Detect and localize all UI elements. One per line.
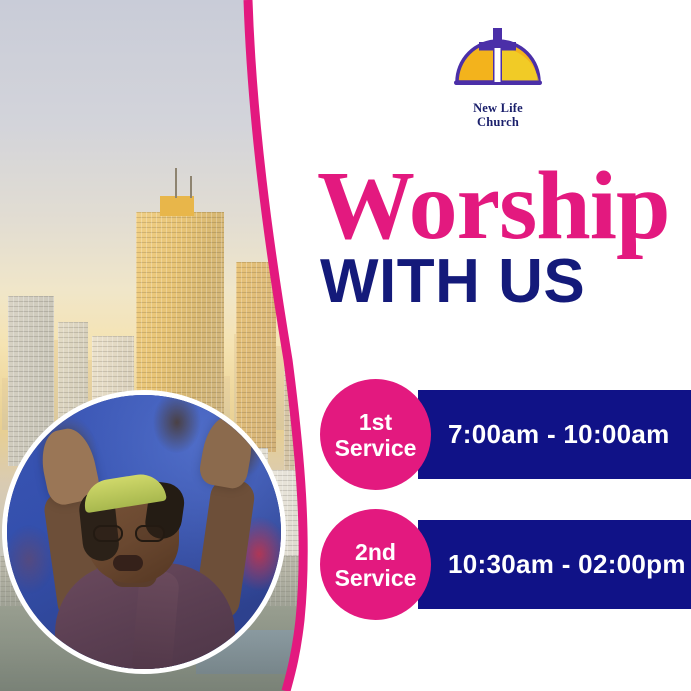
service-badge-2-line1: 2nd bbox=[355, 539, 396, 565]
headline-worship: Worship bbox=[317, 157, 669, 255]
service-badge-1: 1st Service bbox=[320, 379, 431, 490]
service-badge-1-line1: 1st bbox=[359, 409, 392, 435]
service-time-1: 7:00am - 10:00am bbox=[448, 390, 670, 479]
logo-text: New Life Church bbox=[443, 101, 553, 129]
service-badge-2-line2: Service bbox=[335, 565, 417, 591]
logo-name-line1: New Life bbox=[443, 101, 553, 115]
service-badge-2: 2nd Service bbox=[320, 509, 431, 620]
service-time-2: 10:30am - 02:00pm bbox=[448, 520, 686, 609]
tower-antenna bbox=[175, 168, 177, 198]
headline-with-us: WITH US bbox=[320, 251, 585, 313]
logo-name-line2: Church bbox=[443, 115, 553, 129]
church-cross-dome-icon bbox=[443, 26, 553, 94]
church-logo: New Life Church bbox=[443, 26, 553, 126]
service-badge-1-line2: Service bbox=[335, 435, 417, 461]
worshipper-mouth bbox=[113, 555, 143, 571]
tower-antenna-2 bbox=[190, 176, 192, 198]
worshipper-photo bbox=[2, 390, 286, 674]
worship-flyer: New Life Church Worship WITH US 7:00am -… bbox=[0, 0, 691, 691]
worshipper-glasses bbox=[91, 525, 169, 542]
tower-crown bbox=[160, 196, 194, 216]
